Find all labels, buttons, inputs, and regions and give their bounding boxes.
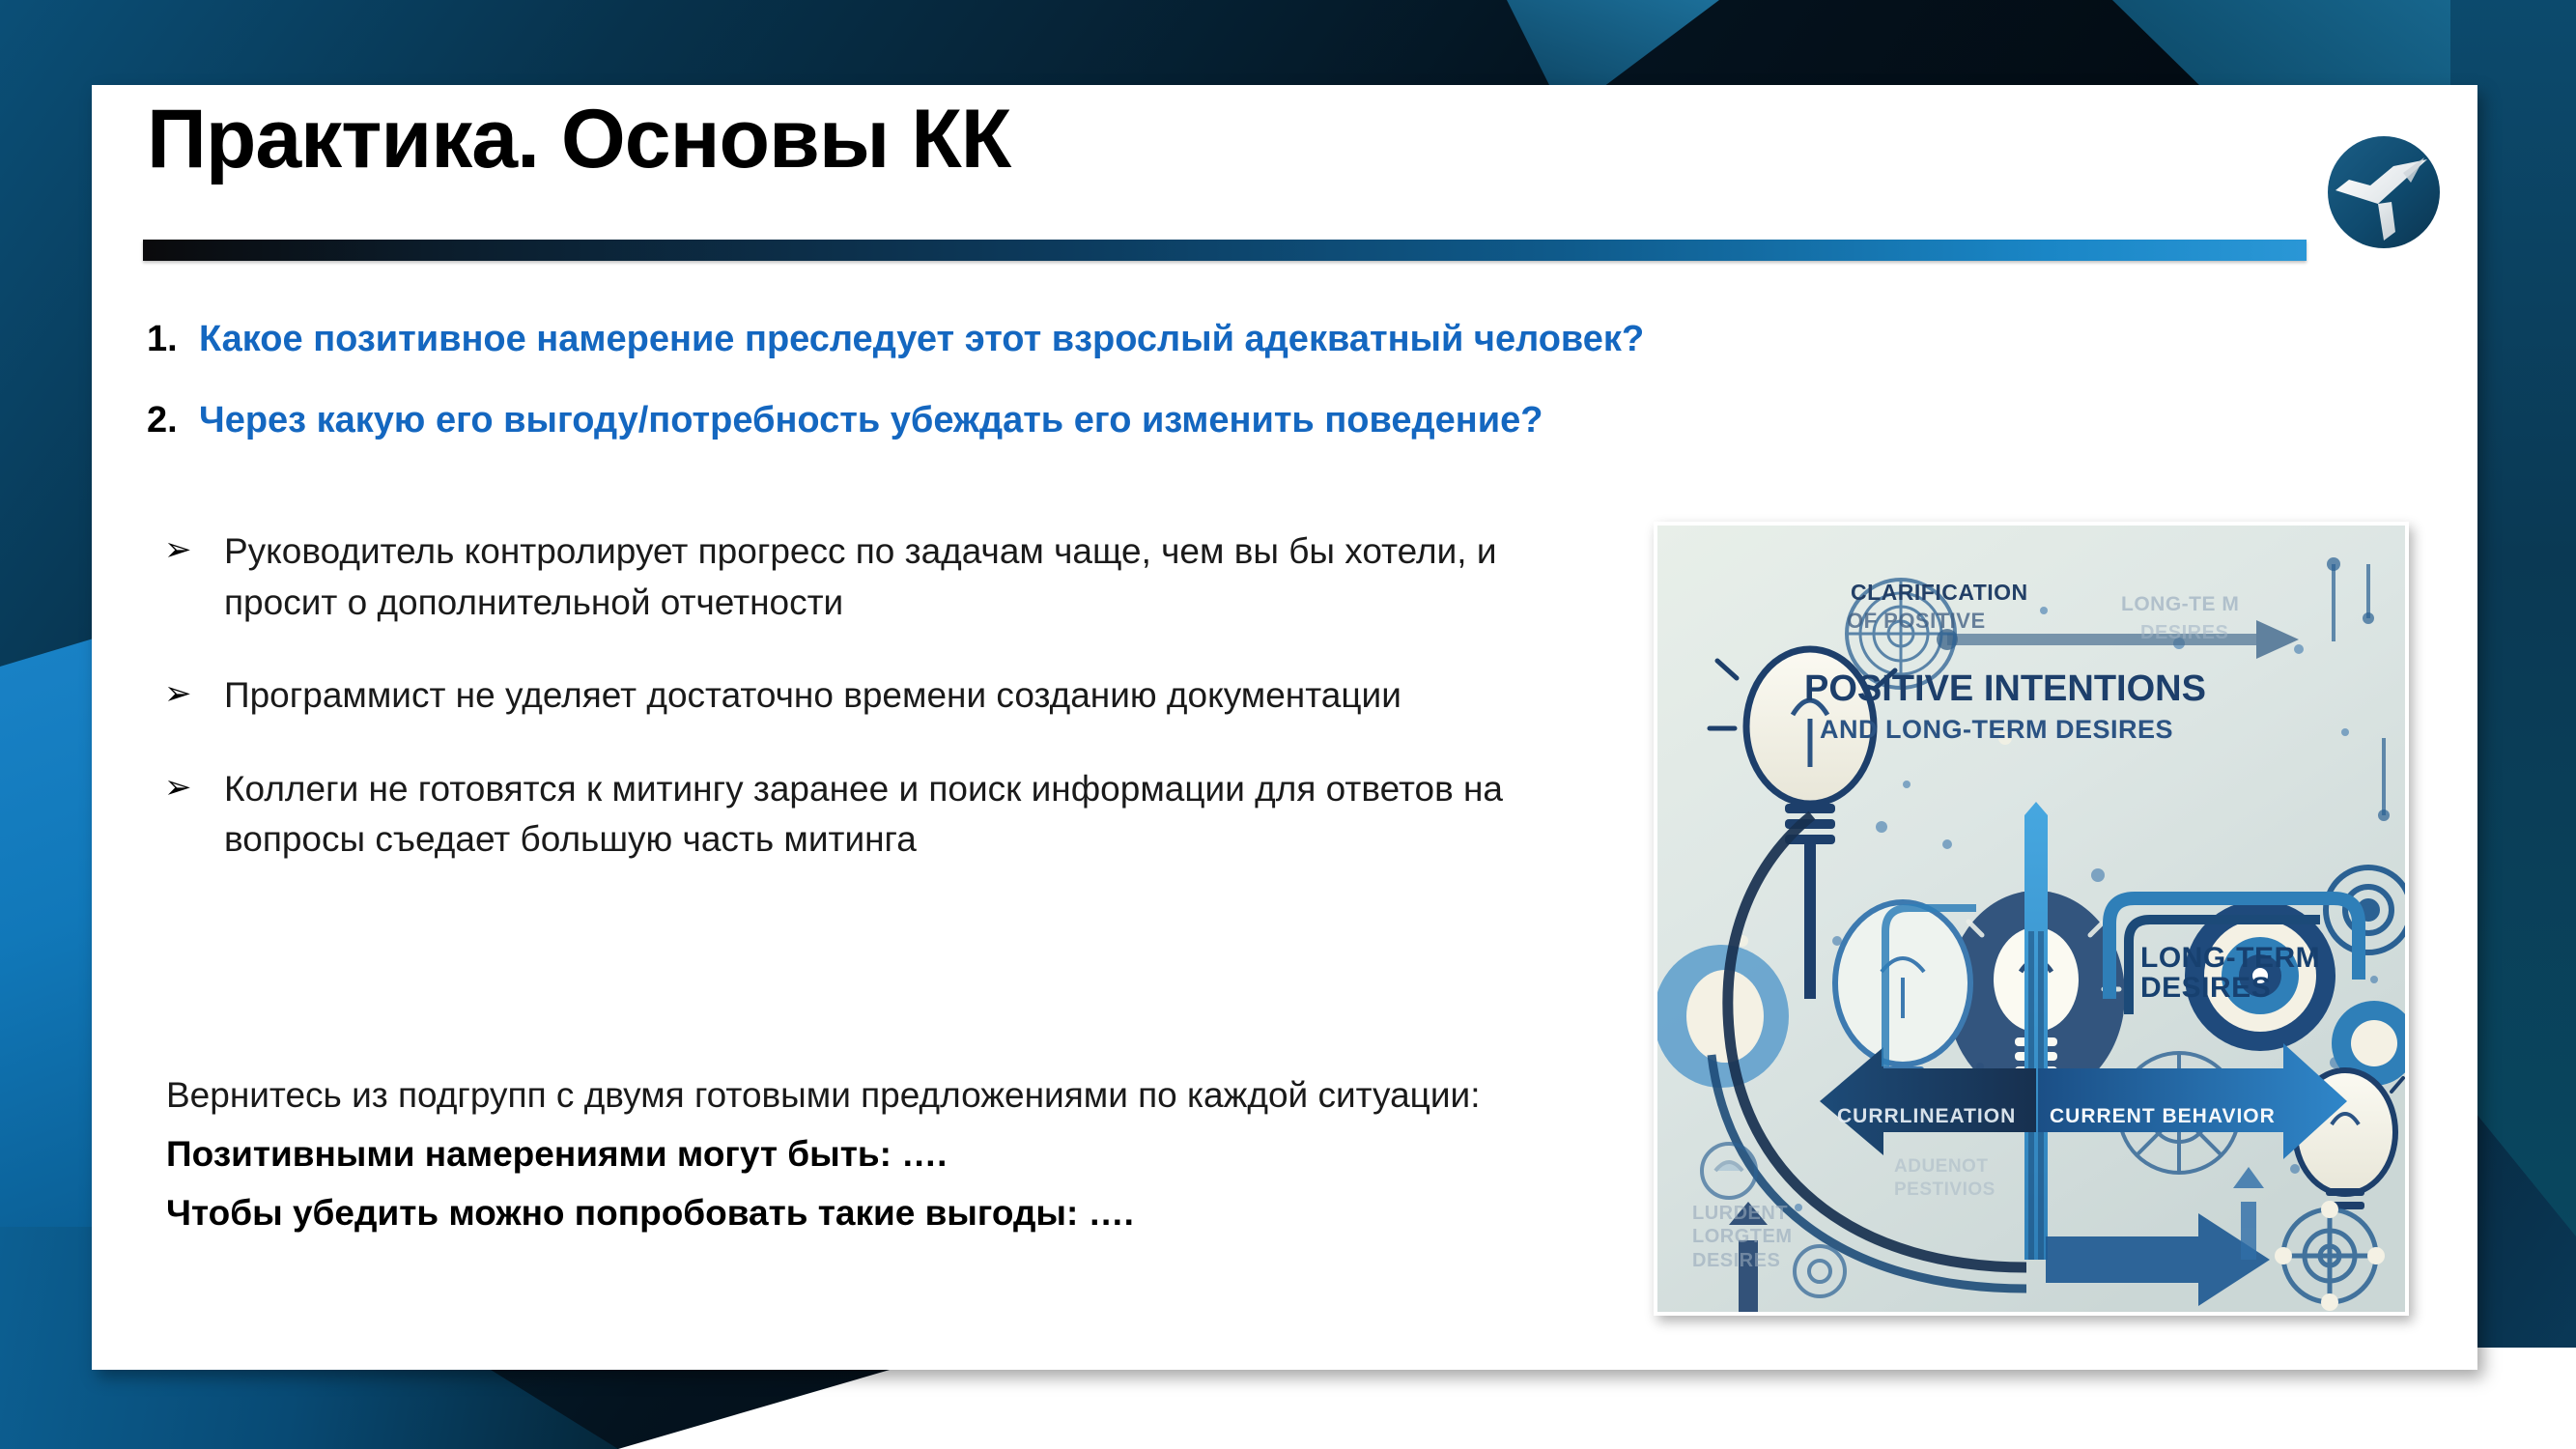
illustration-label-ghost-desires: DESIRES — [2140, 622, 2228, 644]
question-row: 1. Какое позитивное намерение преследует… — [147, 319, 2339, 361]
illustration-label-ghost-long-term: LONG-TE M — [2121, 593, 2239, 616]
bullet-item: ➢ Коллеги не готовятся к митингу заранее… — [164, 764, 1594, 866]
bullet-text: Коллеги не готовятся к митингу заранее и… — [224, 764, 1594, 866]
question-text: Какое позитивное намерение преследует эт… — [199, 319, 1644, 361]
question-number: 1. — [147, 319, 199, 361]
bullet-item: ➢ Руководитель контролирует прогресс по … — [164, 526, 1594, 628]
closing-line-1: Позитивными намерениями могут быть: …. — [166, 1129, 1596, 1179]
bullet-text: Программист не уделяет достаточно времен… — [224, 670, 1401, 722]
illustration-label-current-clarification: CURRLINEATION — [1837, 1105, 2016, 1128]
closing-line-2: Чтобы убедить можно попробовать такие вы… — [166, 1188, 1596, 1237]
question-text: Через какую его выгоду/потребность убежд… — [199, 400, 1543, 442]
slide-root: Практика. Основы КК — [0, 0, 2576, 1449]
illustration-image: CLARIFICATION OF POSITIVE LONG-TE M DESI… — [1657, 526, 2405, 1312]
bullet-text: Руководитель контролирует прогресс по за… — [224, 526, 1594, 628]
bullet-item: ➢ Программист не уделяет достаточно врем… — [164, 670, 1594, 722]
illustration-label-and-long-term-desires: AND LONG-TERM DESIRES — [1820, 715, 2173, 745]
illustration-label-of-positive: OF POSITIVE — [1847, 609, 1986, 634]
illustration-label-positive-intentions: POSITIVE INTENTIONS — [1804, 668, 2206, 710]
page-title: Практика. Основы КК — [147, 92, 1010, 187]
illustration-label-current-behavior: CURRENT BEHAVIOR — [2050, 1105, 2276, 1128]
illustration-frame: CLARIFICATION OF POSITIVE LONG-TE M DESI… — [1654, 522, 2409, 1316]
illustration-label-ghost-left: LURDENT LORGTEM DESIRES — [1692, 1202, 1793, 1272]
closing-block: Вернитесь из подгрупп с двумя готовыми п… — [166, 1070, 1596, 1237]
question-list: 1. Какое позитивное намерение преследует… — [147, 319, 2339, 480]
arrow-bullet-icon: ➢ — [164, 764, 224, 810]
illustration-label-ghost-mid: ADUENOT PESTIVIOS — [1894, 1155, 1996, 1202]
question-row: 2. Через какую его выгоду/потребность уб… — [147, 400, 2339, 442]
bullet-list: ➢ Руководитель контролирует прогресс по … — [164, 526, 1594, 908]
illustration-canvas: CLARIFICATION OF POSITIVE LONG-TE M DESI… — [1657, 526, 2405, 1312]
title-divider-rule — [143, 240, 2307, 261]
illustration-label-long-term-desires: LONG-TERM DESIRES — [2140, 943, 2320, 1003]
arrow-bullet-icon: ➢ — [164, 526, 224, 573]
question-number: 2. — [147, 400, 199, 442]
closing-intro: Вернитесь из подгрупп с двумя готовыми п… — [166, 1070, 1596, 1120]
arrow-bullet-icon: ➢ — [164, 670, 224, 717]
airplane-circle-logo-icon — [2310, 121, 2457, 268]
illustration-label-clarification: CLARIFICATION — [1851, 580, 2028, 606]
